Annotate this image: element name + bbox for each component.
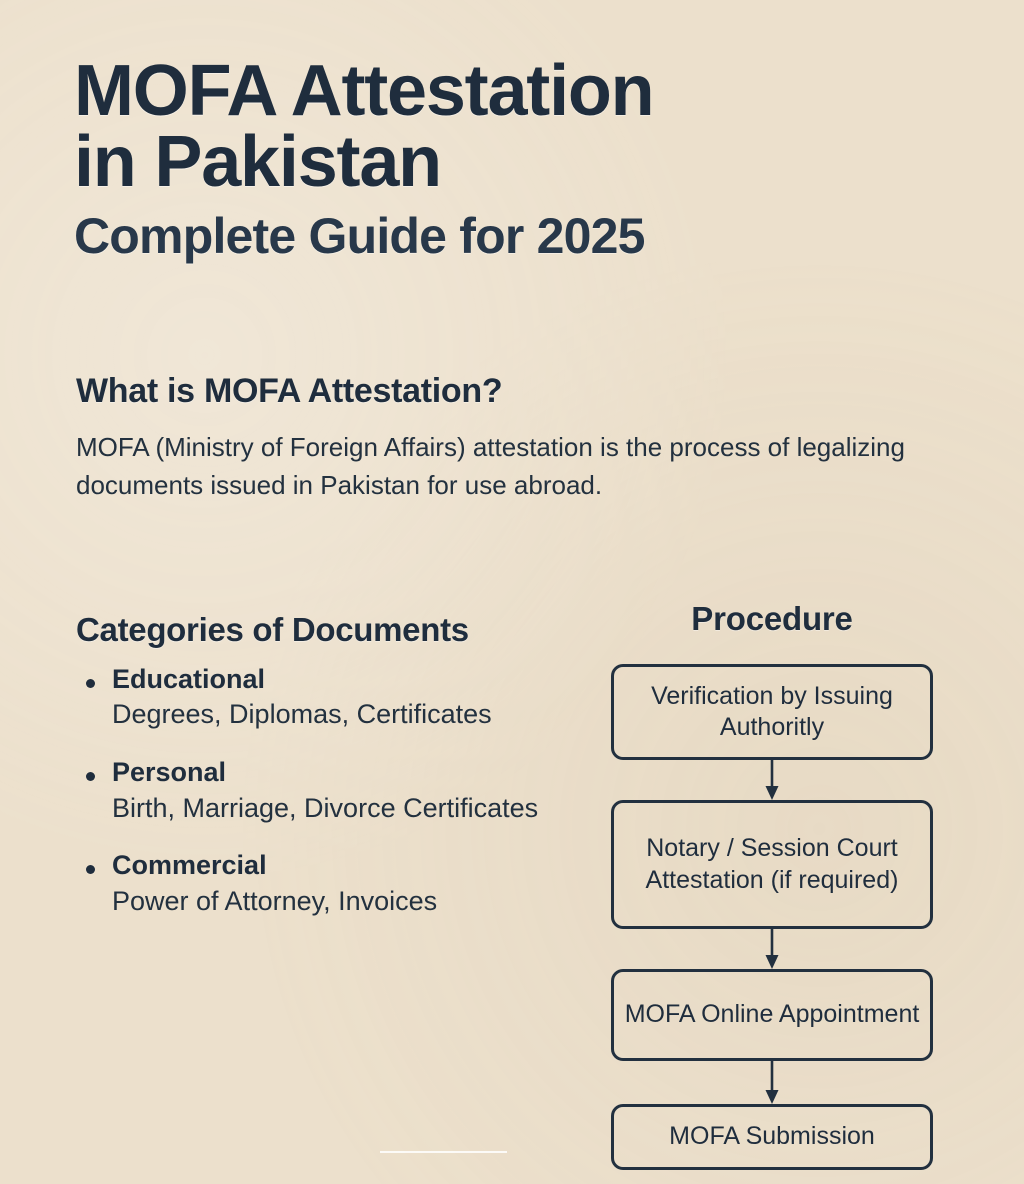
page-title: MOFA Attestation in Pakistan <box>74 56 974 197</box>
infographic-page: MOFA Attestation in Pakistan Complete Gu… <box>0 0 1024 1184</box>
arrow-down-icon <box>763 760 781 800</box>
procedure-heading: Procedure <box>611 600 933 638</box>
page-title-line-2: in Pakistan <box>74 127 974 198</box>
categories-list: Educational Degrees, Diplomas, Certifica… <box>76 662 546 920</box>
flow-connector-1 <box>611 760 933 800</box>
what-is-section: What is MOFA Attestation? MOFA (Ministry… <box>76 372 906 505</box>
flow-step-4-label: MOFA Submission <box>669 1121 875 1153</box>
category-description: Birth, Marriage, Divorce Certificates <box>112 791 546 827</box>
arrow-down-icon <box>763 929 781 969</box>
flow-connector-3 <box>611 1061 933 1104</box>
procedure-flowchart: Procedure Verification by Issuing Author… <box>611 600 933 1170</box>
categories-section: Categories of Documents Educational Degr… <box>76 612 546 941</box>
flow-connector-2 <box>611 929 933 969</box>
what-is-heading: What is MOFA Attestation? <box>76 372 906 411</box>
flow-step-3: MOFA Online Appointment <box>611 969 933 1061</box>
categories-heading: Categories of Documents <box>76 612 546 648</box>
flow-step-3-label: MOFA Online Appointment <box>625 999 920 1031</box>
what-is-body: MOFA (Ministry of Foreign Affairs) attes… <box>76 429 906 505</box>
bullet-icon <box>86 772 95 781</box>
flow-step-1-label: Verification by Issuing Authoritly <box>624 681 920 744</box>
arrow-down-icon <box>763 1061 781 1104</box>
list-item: Commercial Power of Attorney, Invoices <box>76 848 546 919</box>
category-description: Degrees, Diplomas, Certificates <box>112 697 546 733</box>
category-name: Personal <box>112 755 546 791</box>
bullet-icon <box>86 679 95 688</box>
bullet-icon <box>86 865 95 874</box>
page-title-line-1: MOFA Attestation <box>74 56 974 127</box>
decorative-rule <box>380 1151 507 1153</box>
page-subtitle: Complete Guide for 2025 <box>74 211 974 261</box>
list-item: Personal Birth, Marriage, Divorce Certif… <box>76 755 546 826</box>
category-name: Commercial <box>112 848 546 884</box>
flow-step-1: Verification by Issuing Authoritly <box>611 664 933 760</box>
list-item: Educational Degrees, Diplomas, Certifica… <box>76 662 546 733</box>
flow-step-4: MOFA Submission <box>611 1104 933 1170</box>
category-name: Educational <box>112 662 546 698</box>
flow-step-2: Notary / Session Court Attestation (if r… <box>611 800 933 929</box>
flow-step-2-label: Notary / Session Court Attestation (if r… <box>624 833 920 896</box>
category-description: Power of Attorney, Invoices <box>112 884 546 920</box>
header-block: MOFA Attestation in Pakistan Complete Gu… <box>74 56 974 261</box>
